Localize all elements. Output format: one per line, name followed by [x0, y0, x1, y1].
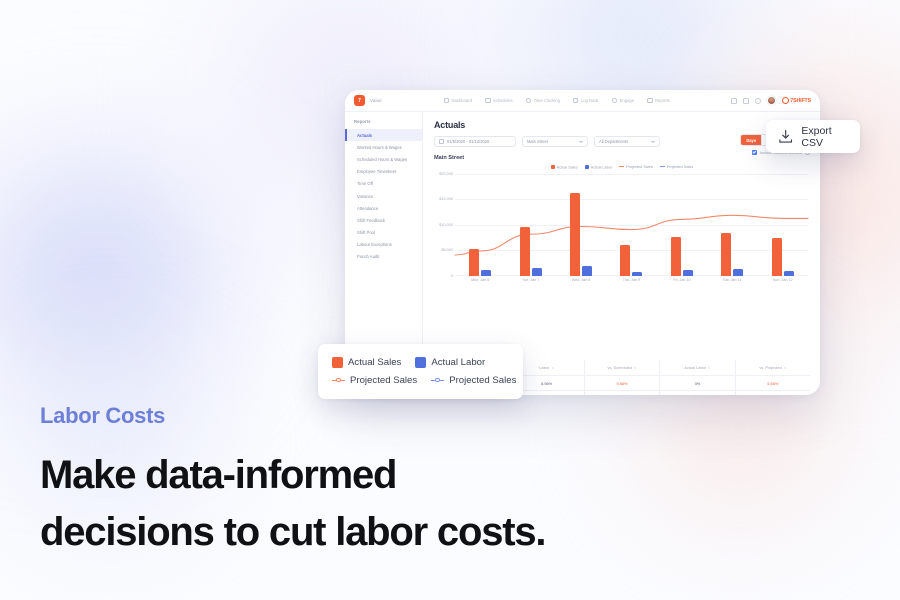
chart-legend-card: Actual Sales Actual Labor Projected Sale…: [318, 344, 523, 399]
checkbox-checked-icon[interactable]: [752, 150, 757, 155]
table-header-cell[interactable]: vs. Projected⇅: [736, 360, 810, 375]
app-nav: Dashboard Schedules Time Clocking Log Bo…: [444, 98, 670, 104]
legend-item-actual-labor[interactable]: Actual Labor: [415, 357, 485, 368]
chart-bar-group: [606, 174, 656, 276]
sidebar-item-variance[interactable]: Variance: [345, 190, 422, 202]
legend-row-bottom: Projected Sales Projected Sales: [332, 371, 509, 389]
chevron-down-icon: [579, 141, 583, 143]
nav-item-engage[interactable]: Engage: [612, 98, 634, 104]
sort-icon: ⇅: [708, 366, 711, 370]
apps-icon[interactable]: [731, 98, 737, 104]
nav-item-dashboard[interactable]: Dashboard: [444, 98, 473, 104]
legend-label: Projected Sales: [350, 375, 417, 386]
page-title: Actuals: [434, 120, 810, 130]
sidebar-title: Reports: [345, 119, 422, 129]
table-cell: 3%: [660, 376, 735, 390]
location-heading: Main Street: [434, 155, 810, 161]
legend-entry-actual-sales: Actual Sales: [551, 165, 578, 170]
calendar-icon: [439, 139, 444, 144]
book-icon: [573, 98, 579, 104]
legend-swatch-orange: [551, 165, 555, 169]
brand-name-label: Value: [370, 98, 382, 103]
chart-bar-group: [556, 174, 606, 276]
bar-actual-sales[interactable]: [520, 227, 530, 276]
legend-entry-projected-sales-blue: Projected Sales: [660, 165, 694, 170]
chart-plot-area: [455, 174, 808, 276]
legend-line-marker-orange-icon: [332, 378, 345, 383]
bar-actual-sales[interactable]: [469, 249, 479, 276]
chart-y-axis: $20,000 $15,000 $10,000 $5,000 0: [434, 174, 454, 276]
bar-actual-labor[interactable]: [683, 270, 693, 276]
calendar-icon: [485, 98, 491, 104]
y-tick-label: 0: [451, 274, 453, 278]
bar-actual-labor[interactable]: [481, 270, 491, 276]
department-value: All Departments: [599, 139, 628, 144]
x-tick-label: Fri, Jan 10: [657, 278, 707, 282]
x-tick-label: Wed, Jan 8: [556, 278, 606, 282]
sidebar-item-worked-hours-wages[interactable]: Worked Hours & Wages: [345, 141, 422, 153]
chat-icon: [612, 98, 618, 104]
x-tick-label: Sun, Jan 12: [758, 278, 808, 282]
location-select[interactable]: Main Street: [522, 136, 588, 147]
table-cell: $45,002: [736, 391, 810, 395]
bar-actual-labor[interactable]: [582, 266, 592, 276]
x-tick-label: Thu, Jan 9: [606, 278, 656, 282]
bar-actual-labor[interactable]: [784, 271, 794, 276]
nav-item-log-book[interactable]: Log Book: [573, 98, 599, 104]
x-tick-label: Mon, Jan 6: [455, 278, 505, 282]
bar-actual-labor[interactable]: [532, 268, 542, 275]
sort-icon: ⇅: [634, 366, 637, 370]
chart-bar-group: [657, 174, 707, 276]
sidebar-item-shift-pool[interactable]: Shift Pool: [345, 227, 422, 239]
nav-label: Schedules: [493, 98, 513, 103]
download-icon: [777, 127, 794, 147]
logo-ring-icon: [782, 97, 789, 104]
nav-item-reports[interactable]: Reports: [647, 98, 670, 104]
legend-swatch-blue: [585, 165, 589, 169]
table-header-cell[interactable]: Actual Labor⇅: [660, 360, 735, 375]
legend-line-orange: [619, 166, 624, 167]
nav-item-time-clocking[interactable]: Time Clocking: [526, 98, 560, 104]
sidebar-item-time-off[interactable]: Time Off: [345, 178, 422, 190]
legend-item-projected-sales-blue[interactable]: Projected Sales: [431, 375, 516, 386]
y-tick-label: $5,000: [441, 248, 453, 252]
x-tick-label: Sat, Jan 11: [707, 278, 757, 282]
actuals-chart: $20,000 $15,000 $10,000 $5,000 0: [434, 174, 810, 292]
legend-item-projected-sales-orange[interactable]: Projected Sales: [332, 375, 417, 386]
chart-bars: [455, 174, 808, 276]
chart-bar-group: [505, 174, 555, 276]
export-csv-label: Export CSV: [801, 125, 849, 149]
legend-item-actual-sales[interactable]: Actual Sales: [332, 357, 401, 368]
segment-days[interactable]: Days: [741, 135, 762, 145]
bar-actual-labor[interactable]: [632, 272, 642, 276]
nav-label: Log Book: [581, 98, 599, 103]
brand-mark-icon[interactable]: 7: [354, 95, 365, 106]
table-header-cell[interactable]: vs. Scheduled⇅: [585, 360, 660, 375]
legend-entry-actual-labor: Actual Labor: [585, 165, 612, 170]
headline: Make data-informed decisions to cut labo…: [40, 447, 545, 561]
legend-label: Actual Sales: [348, 357, 401, 368]
legend-swatch-blue-icon: [415, 357, 426, 368]
messages-icon[interactable]: [743, 98, 749, 104]
sort-icon: ⇅: [551, 366, 554, 370]
legend-entry-projected-sales-orange: Projected Sales: [619, 165, 653, 170]
notifications-icon[interactable]: [755, 98, 761, 104]
legend-swatch-orange-icon: [332, 357, 343, 368]
legend-line-marker-blue-icon: [431, 378, 444, 383]
grid-icon: [444, 98, 450, 104]
location-value: Main Street: [527, 139, 548, 144]
nav-label: Time Clocking: [534, 98, 560, 103]
sort-icon: ⇅: [784, 366, 787, 370]
y-tick-label: $10,000: [439, 223, 453, 227]
nav-item-schedules[interactable]: Schedules: [485, 98, 513, 104]
x-tick-label: Tue, Jan 7: [505, 278, 555, 282]
chart-bar-group: [707, 174, 757, 276]
headline-line-2: decisions to cut labor costs.: [40, 504, 545, 561]
bar-actual-sales[interactable]: [671, 237, 681, 276]
sidebar-item-punch-audit[interactable]: Punch Audit: [345, 251, 422, 263]
legend-label: Actual Labor: [431, 357, 485, 368]
table-cell: 5.56%: [585, 376, 660, 390]
department-select[interactable]: All Departments: [594, 136, 660, 147]
bar-actual-sales[interactable]: [570, 193, 580, 276]
sidebar-item-shift-feedback[interactable]: Shift Feedback: [345, 214, 422, 226]
logo-text: 7SHIFTS: [790, 98, 811, 104]
sidebar-item-labour-exceptions[interactable]: Labour Exceptions: [345, 239, 422, 251]
y-tick-label: $20,000: [439, 172, 453, 176]
bar-actual-labor[interactable]: [733, 269, 743, 275]
headline-line-1: Make data-informed: [40, 447, 545, 504]
table-cell: $45,002: [660, 391, 735, 395]
y-tick-label: $15,000: [439, 197, 453, 201]
nav-label: Dashboard: [452, 98, 473, 103]
bar-actual-sales[interactable]: [721, 233, 731, 275]
chart-inline-legend: Actual Sales Actual Labor Projected Sale…: [434, 165, 810, 170]
nav-label: Reports: [655, 98, 670, 103]
background-blob-violet: [0, 120, 260, 430]
table-cell: 5.56%: [736, 376, 810, 390]
bar-chart-icon: [647, 98, 653, 104]
export-csv-button[interactable]: Export CSV: [766, 120, 860, 153]
nav-label: Engage: [620, 98, 634, 103]
legend-row-top: Actual Sales Actual Labor: [332, 353, 509, 371]
promo-canvas: 7 Value Dashboard Schedules Time Clockin…: [0, 0, 900, 600]
sevenshifts-logo: 7SHIFTS: [782, 97, 811, 104]
chart-bar-group: [455, 174, 505, 276]
eyebrow-label: Labor Costs: [40, 403, 165, 429]
date-range-value: 01/6/2020 - 01/12/2020: [447, 139, 489, 144]
chevron-down-icon: [651, 141, 655, 143]
sidebar-item-attendance[interactable]: Attendance: [345, 202, 422, 214]
date-range-picker[interactable]: 01/6/2020 - 01/12/2020: [434, 136, 516, 147]
table-cell: $45,002: [585, 391, 660, 395]
bar-actual-sales[interactable]: [620, 245, 630, 276]
bar-actual-sales[interactable]: [772, 238, 782, 276]
legend-label: Projected Sales: [449, 375, 516, 386]
app-topbar: 7 Value Dashboard Schedules Time Clockin…: [345, 90, 820, 112]
legend-line-blue: [660, 166, 665, 167]
topbar-actions: 7SHIFTS: [731, 96, 811, 105]
avatar[interactable]: [767, 96, 776, 105]
chart-x-axis: Mon, Jan 6Tue, Jan 7Wed, Jan 8Thu, Jan 9…: [455, 278, 808, 282]
chart-bar-group: [758, 174, 808, 276]
sidebar-item-actuals[interactable]: Actuals: [345, 129, 422, 141]
sidebar-item-employee-timesheet[interactable]: Employee Timesheet: [345, 166, 422, 178]
sidebar-item-scheduled-hours-wages[interactable]: Scheduled Hours & Wages: [345, 153, 422, 165]
clock-icon: [526, 98, 532, 104]
